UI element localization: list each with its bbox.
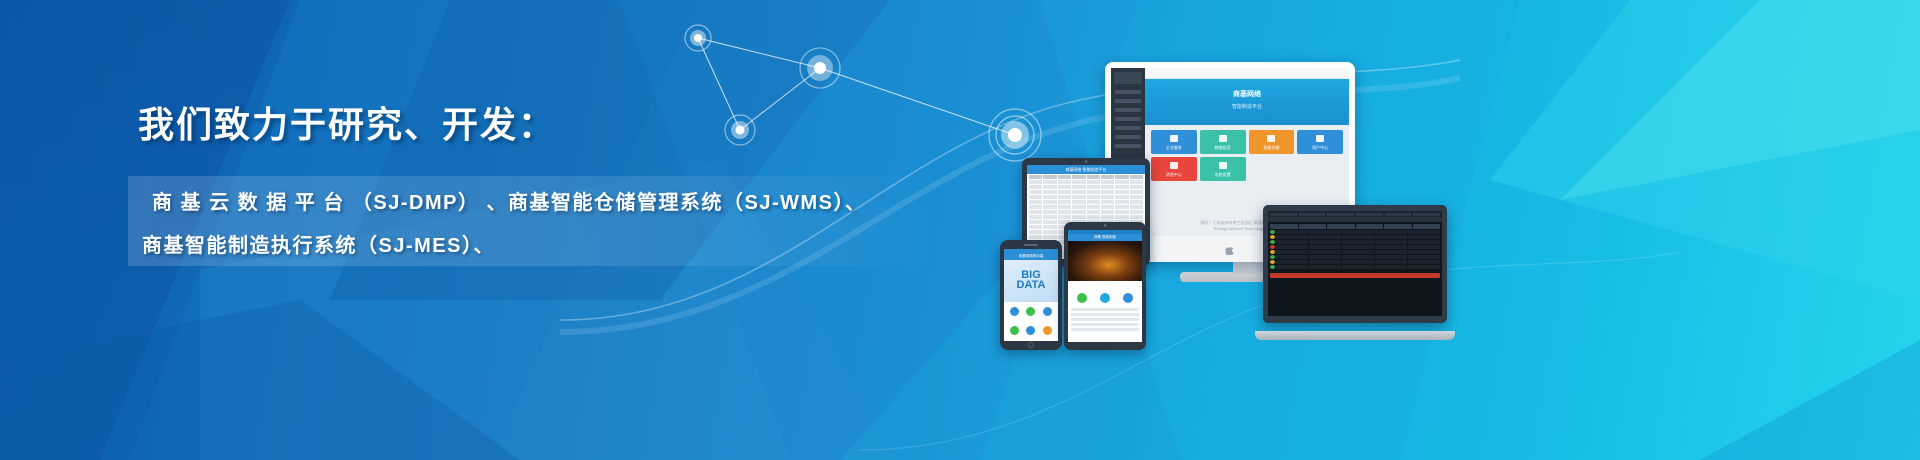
tile-yonghu-zhongxin[interactable]: 用户中心 (1297, 130, 1343, 154)
phone-title: 商基网络移动端 (1019, 254, 1044, 259)
laptop-lid (1263, 205, 1447, 323)
table-row (1270, 245, 1440, 249)
phone-icon-row[interactable] (1004, 321, 1058, 340)
bigdata-graphic: BIG DATA (1017, 270, 1046, 291)
tile-qiye-fuwu[interactable]: 企业服务 (1151, 130, 1197, 154)
sidebar-item[interactable] (1115, 90, 1141, 94)
mini-caption: · · · (1068, 281, 1142, 289)
mail-icon (1170, 162, 1178, 169)
sidebar-item[interactable] (1115, 144, 1141, 148)
tile-shuju-yingyong[interactable]: 数据应用 (1200, 130, 1246, 154)
table-row (1270, 235, 1440, 239)
hero-subtitle: 智能制造平台 (1232, 103, 1262, 110)
box-icon (1267, 135, 1275, 142)
table-row (1029, 190, 1143, 194)
table-row (1029, 210, 1143, 214)
network-node-icon (685, 25, 711, 51)
table-row (1029, 215, 1143, 219)
page-title: 我们致力于研究、开发： (138, 96, 556, 148)
list-item (1071, 328, 1139, 331)
tile-label: 企业服务 (1151, 145, 1197, 151)
table-row (1270, 240, 1440, 244)
table-row (1029, 195, 1143, 199)
phone-hero-image: BIG DATA (1004, 260, 1058, 302)
table-row (1029, 200, 1143, 204)
promo-banner: 我们致力于研究、开发： 商 基 云 数 据 平 台 （SJ-DMP） 、商基智能… (0, 0, 1920, 460)
sidebar-item[interactable] (1115, 135, 1141, 139)
list-item (1071, 308, 1139, 311)
phone-icon-row[interactable] (1004, 302, 1058, 321)
tile-zhineng-cangchu[interactable]: 智能仓储 (1249, 130, 1295, 154)
app-topbar[interactable] (1145, 68, 1349, 79)
network-node-icon (800, 48, 840, 88)
hero-title: 商基网络 (1233, 89, 1261, 99)
tile-label: 消息中心 (1151, 172, 1197, 178)
laptop-base (1255, 331, 1455, 340)
tablet-camera (1085, 160, 1088, 163)
list-item (1071, 323, 1139, 326)
table-row (1029, 205, 1143, 209)
phone-screen: 商基网络移动端 BIG DATA (1004, 249, 1058, 341)
laptop-mockup (1255, 205, 1455, 340)
network-node-icon (725, 115, 755, 145)
list-item (1071, 318, 1139, 321)
phone-speaker (1024, 244, 1038, 246)
chart-icon (1219, 135, 1227, 142)
mini-icon-row[interactable] (1068, 289, 1142, 307)
bg-facet-8 (1560, 0, 1920, 200)
sidebar-item[interactable] (1115, 117, 1141, 121)
app-icon-cyan[interactable] (1100, 293, 1110, 303)
apple-logo-icon (1226, 245, 1235, 255)
app-icon-orange[interactable] (1043, 326, 1052, 335)
phone-mockup: 商基网络移动端 BIG DATA (1000, 240, 1062, 350)
table-row (1270, 265, 1440, 269)
tablet-title: 商基网络 智能制造平台 (1065, 167, 1106, 173)
bg-facet-9 (1700, 300, 1920, 460)
dashboard-alert-bar (1270, 273, 1440, 278)
monitor-icon (1170, 135, 1178, 142)
tile-xitong-shezhi[interactable]: 系统设置 (1200, 157, 1246, 181)
dashboard-table (1268, 222, 1442, 272)
sidebar-item[interactable] (1115, 99, 1141, 103)
table-row (1270, 260, 1440, 264)
table-row (1270, 250, 1440, 254)
phone-home-button[interactable] (1028, 342, 1034, 348)
app-hero: 商基网络 智能制造平台 (1145, 79, 1349, 125)
app-icon-green[interactable] (1077, 293, 1087, 303)
mini-tablet-mockup: 商基 智能制造 · · · (1064, 222, 1146, 350)
app-logo (1114, 72, 1142, 84)
phone-appbar: 商基网络移动端 (1004, 253, 1058, 260)
list-item (1071, 313, 1139, 316)
sidebar-menu[interactable] (1115, 90, 1141, 153)
app-icon-green[interactable] (1026, 307, 1035, 316)
mini-tablet-camera (1104, 224, 1107, 227)
laptop-screen (1268, 211, 1442, 316)
table-row (1270, 255, 1440, 259)
device-mockup-cluster: 商基网络 智能制造平台 企业服务 数据应用 智能仓储 (1000, 40, 1520, 350)
bg-facet-10 (0, 300, 520, 460)
table-header-row (1270, 224, 1440, 229)
app-icon-blue[interactable] (1010, 307, 1019, 316)
pencil-icon (1219, 162, 1227, 169)
table-row (1029, 185, 1143, 189)
app-tile-grid: 企业服务 数据应用 智能仓储 用户中心 (1151, 130, 1343, 181)
table-header-row (1029, 175, 1143, 179)
tile-label: 智能仓储 (1249, 145, 1295, 151)
app-icon-blue[interactable] (1026, 326, 1035, 335)
mini-list (1068, 307, 1142, 334)
app-icon-blue[interactable] (1123, 293, 1133, 303)
table-row (1270, 230, 1440, 234)
mini-appbar: 商基 智能制造 (1068, 234, 1142, 241)
mini-hero-image (1068, 241, 1142, 281)
app-icon-blue[interactable] (1043, 307, 1052, 316)
tablet-appbar: 商基网络 智能制造平台 (1027, 165, 1145, 174)
mini-title: 商基 智能制造 (1094, 235, 1116, 240)
tile-label: 数据应用 (1200, 145, 1246, 151)
bg-facet-7 (1450, 0, 1920, 300)
product-line-1: 商 基 云 数 据 平 台 （SJ-DMP） 、商基智能仓储管理系统（SJ-WM… (152, 186, 867, 215)
mini-tablet-screen: 商基 智能制造 · · · (1068, 230, 1142, 342)
product-line-2: 商基智能制造执行系统（SJ-MES）、 (142, 229, 495, 258)
sidebar-item[interactable] (1115, 108, 1141, 112)
user-icon (1316, 135, 1324, 142)
tile-xiaoxi-zhongxin[interactable]: 消息中心 (1151, 157, 1197, 181)
app-icon-green[interactable] (1010, 326, 1019, 335)
tile-label: 系统设置 (1200, 172, 1246, 178)
tile-label: 用户中心 (1297, 145, 1343, 151)
table-row (1029, 180, 1143, 184)
sidebar-item[interactable] (1115, 126, 1141, 130)
